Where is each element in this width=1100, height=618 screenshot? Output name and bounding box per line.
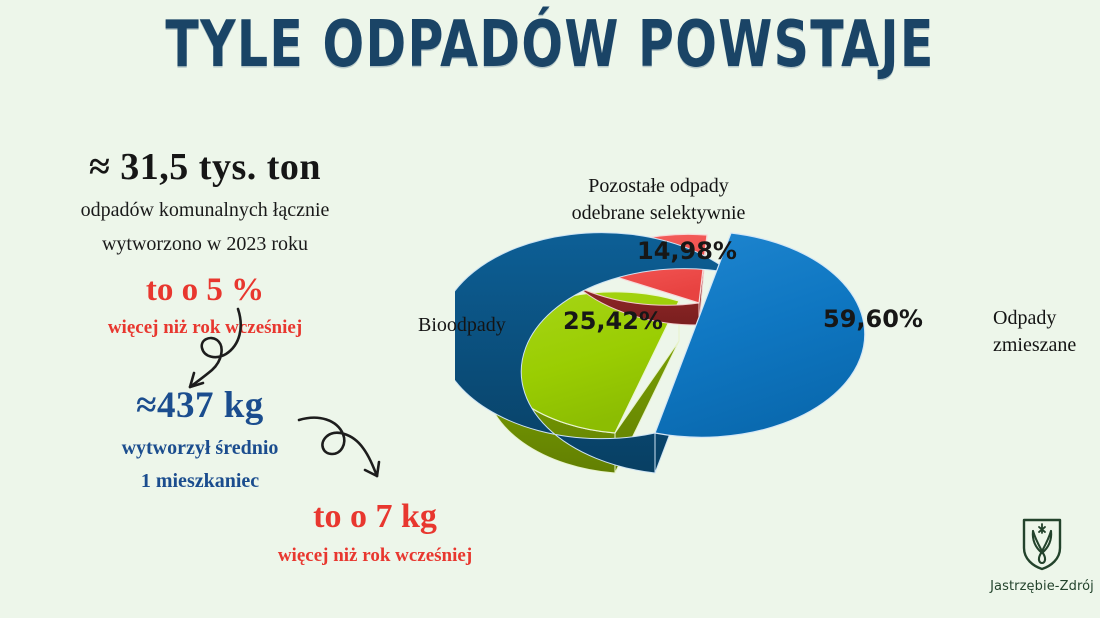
pie-label-zmieszane-line1: Odpady: [993, 305, 1076, 332]
pie-label-odpady-zmieszane: Odpady zmieszane: [993, 305, 1076, 359]
pie-label-bioodpady: Bioodpady: [418, 312, 506, 339]
total-waste-line2: wytworzono w 2023 roku: [40, 232, 370, 258]
total-waste-delta: to o 5 %: [40, 269, 370, 311]
stat-block-per-capita: ≈437 kg wytworzył średnio 1 mieszkaniec: [75, 382, 325, 495]
page-title: TYLE ODPADÓW POWSTAJE: [77, 8, 1023, 82]
per-capita-line1: wytworzył średnio: [75, 436, 325, 462]
pie-label-pozostale-line2: odebrane selektywnie: [551, 200, 766, 227]
waste-composition-pie-chart: 59,60% 25,42% 14,98%: [455, 195, 1055, 525]
per-capita-delta-note: więcej niż rok wcześniej: [215, 544, 535, 568]
pie-value-odpady-zmieszane: 59,60%: [823, 305, 923, 333]
per-capita-headline: ≈437 kg: [75, 382, 325, 429]
total-waste-delta-note: więcej niż rok wcześniej: [40, 316, 370, 340]
pie-value-bioodpady: 25,42%: [563, 307, 663, 335]
pie-value-pozostale-odpady: 14,98%: [637, 237, 737, 265]
coat-of-arms-shield-icon: [1020, 517, 1064, 571]
pie-label-pozostale-odpady: Pozostałe odpady odebrane selektywnie: [551, 173, 766, 227]
city-logo-name: Jastrzębie-Zdrój: [987, 579, 1097, 594]
infographic-poster: TYLE ODPADÓW POWSTAJE ≈ 31,5 tys. ton od…: [0, 0, 1100, 618]
total-waste-headline: ≈ 31,5 tys. ton: [40, 143, 370, 192]
city-logo: Jastrzębie-Zdrój: [987, 517, 1097, 594]
per-capita-line2: 1 mieszkaniec: [75, 469, 325, 495]
pie-label-zmieszane-line2: zmieszane: [993, 332, 1076, 359]
pie-chart-svg: [455, 195, 1055, 525]
total-waste-line1: odpadów komunalnych łącznie: [40, 198, 370, 224]
pie-label-pozostale-line1: Pozostałe odpady: [551, 173, 766, 200]
stat-block-total-waste: ≈ 31,5 tys. ton odpadów komunalnych łącz…: [40, 143, 370, 340]
